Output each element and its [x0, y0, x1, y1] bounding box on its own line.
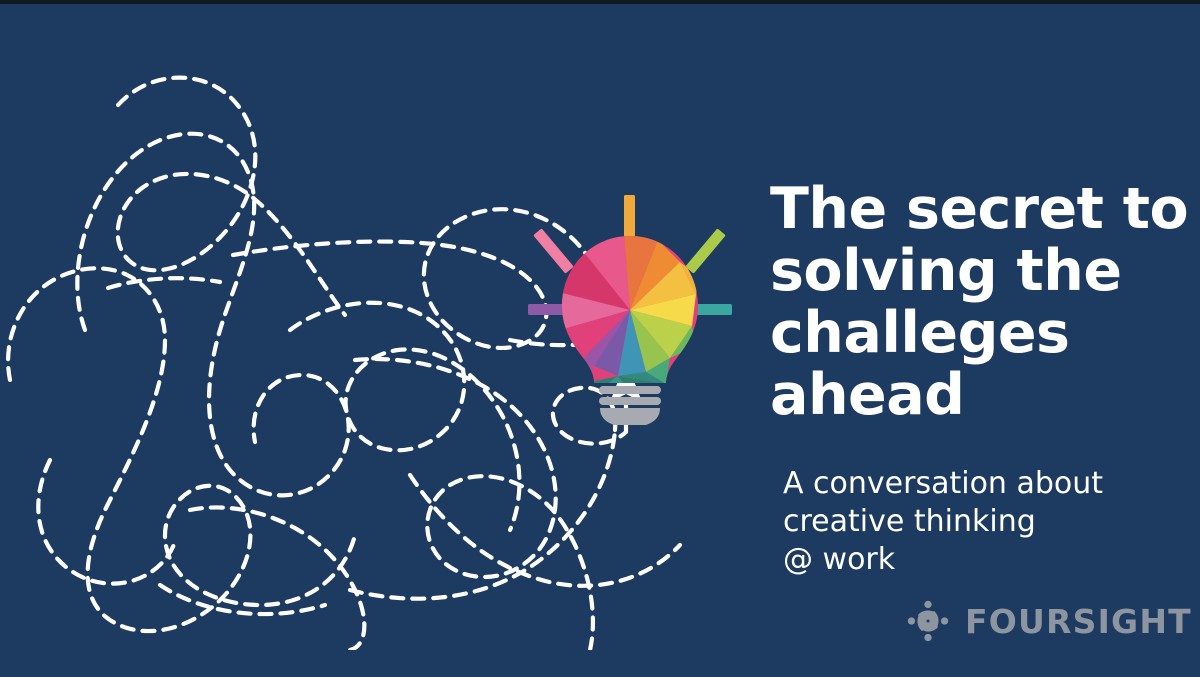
page-title: The secret to solving the challeges ahea…: [770, 178, 1190, 427]
page-subtitle: A conversation about creative thinking @…: [770, 427, 1190, 580]
foursight-logo: FOURSIGHT: [905, 598, 1192, 644]
ray-upper-right: [685, 228, 726, 273]
top-edge-strip: [0, 0, 1200, 4]
bulb-base: [599, 386, 661, 425]
foursight-people-mark: [905, 598, 951, 644]
slide-text-block: The secret to solving the challeges ahea…: [770, 178, 1190, 580]
bulb-glass-facets: [555, 224, 710, 396]
logo-wordmark: FOURSIGHT: [965, 605, 1192, 638]
ray-top: [624, 195, 635, 237]
ray-upper-left: [533, 228, 574, 273]
presentation-slide: The secret to solving the challeges ahea…: [0, 0, 1200, 677]
lightbulb-illustration: [520, 180, 740, 425]
